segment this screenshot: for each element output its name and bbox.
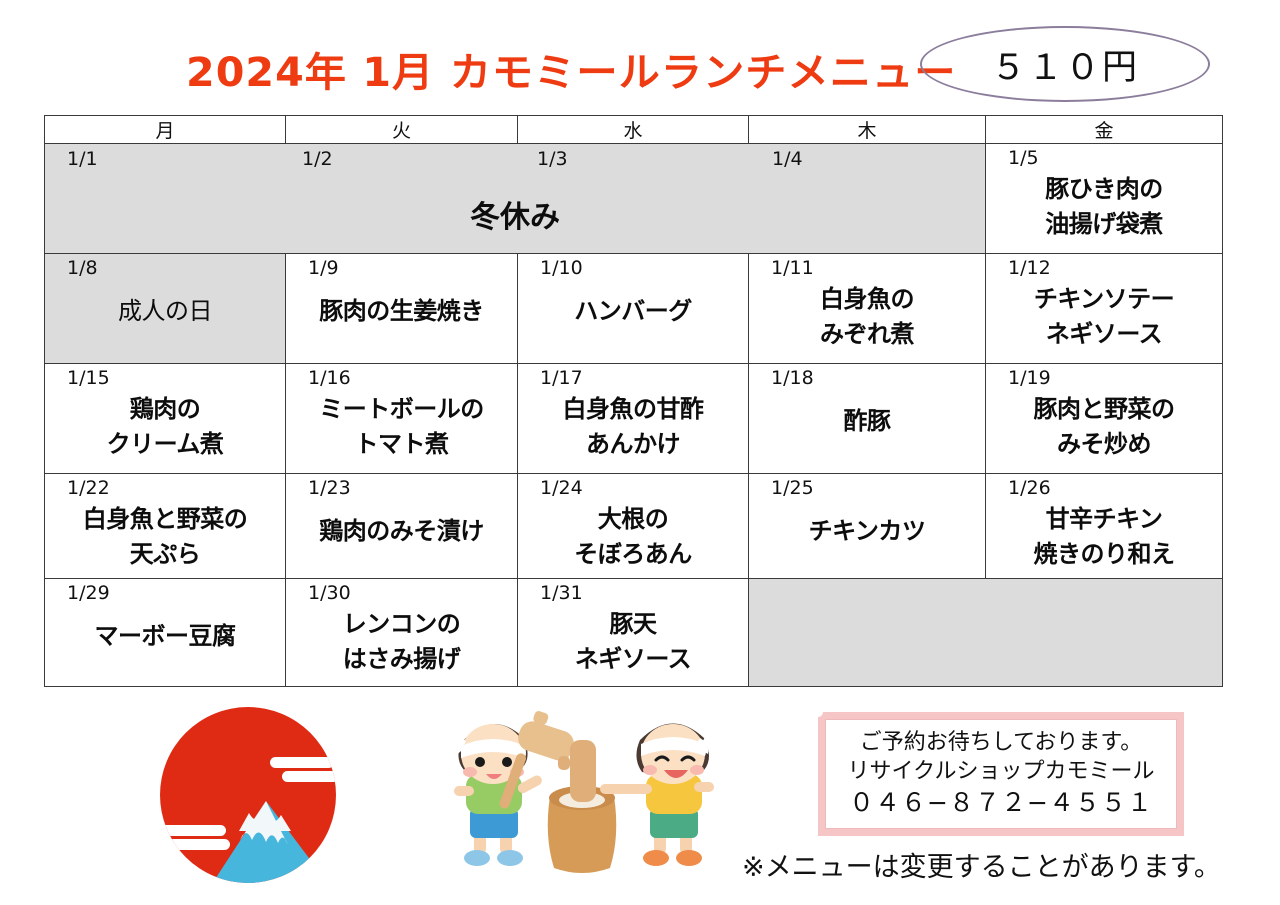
dish-line-1: チキンカツ	[749, 499, 985, 546]
menu-cell-0110: 1/10 ハンバーグ	[518, 254, 749, 364]
menu-cell-0108: 1/8 成人の日	[45, 254, 286, 364]
weekday-header-mon: 月	[45, 116, 286, 144]
holiday-label: 成人の日	[45, 279, 285, 326]
dish-line-1: 豚肉と野菜の	[986, 389, 1222, 424]
menu-cell-0126: 1/26 甘辛チキン 焼きのり和え	[986, 474, 1223, 579]
menu-page: 2024年 1月 カモミールランチメニュー ５１０円 月 火 水 木 金 1/1…	[0, 0, 1280, 905]
menu-cell-0115: 1/15 鶏肉の クリーム煮	[45, 364, 286, 474]
date-label: 1/5	[986, 144, 1222, 169]
menu-cell-0112: 1/12 チキンソテー ネギソース	[986, 254, 1223, 364]
date-label: 1/8	[45, 254, 285, 279]
menu-cell-0105: 1/5 豚ひき肉の 油揚げ袋煮	[986, 144, 1223, 254]
price-label: ５１０円	[991, 39, 1139, 90]
dish-line-2: ネギソース	[986, 314, 1222, 349]
dish-line-1: 鶏肉のみそ漬け	[286, 499, 517, 546]
date-label: 1/23	[286, 474, 517, 499]
reservation-stamp-inner: ご予約お待ちしております。 リサイクルショップカモミール ０４６−８７２−４５５…	[825, 719, 1177, 829]
dish-line-2: そぼろあん	[518, 534, 748, 569]
mochi-pounding-children-icon	[432, 700, 732, 895]
weekday-header-wed: 水	[518, 116, 749, 144]
date-label: 1/11	[749, 254, 985, 279]
dish-line-1: レンコンの	[286, 604, 517, 639]
weekday-header-row: 月 火 水 木 金	[45, 116, 1223, 144]
date-label: 1/4	[750, 144, 985, 170]
table-row: 1/1 1/2 1/3 1/4 冬休み 1/5 豚ひき肉の 油揚げ袋煮	[45, 144, 1223, 254]
menu-cell-0122: 1/22 白身魚と野菜の 天ぷら	[45, 474, 286, 579]
date-label: 1/17	[518, 364, 748, 389]
dish-line-1: ハンバーグ	[518, 279, 748, 326]
dish-line-1: 酢豚	[749, 389, 985, 436]
menu-cell-0125: 1/25 チキンカツ	[749, 474, 986, 579]
dish-line-2: はさみ揚げ	[286, 639, 517, 674]
menu-change-note: ※メニューは変更することがあります。	[742, 845, 1221, 884]
reservation-stamp: ご予約お待ちしております。 リサイクルショップカモミール ０４６−８７２−４５５…	[818, 712, 1184, 836]
dish-line-2: ネギソース	[518, 639, 748, 674]
menu-cell-0117: 1/17 白身魚の甘酢 あんかけ	[518, 364, 749, 474]
menu-cell-0123: 1/23 鶏肉のみそ漬け	[286, 474, 518, 579]
menu-cell-0129: 1/29 マーボー豆腐	[45, 579, 286, 687]
dish-line-2: 天ぷら	[45, 534, 285, 569]
dish-line-1: 甘辛チキン	[986, 499, 1222, 534]
mount-fuji-sun-icon	[148, 705, 353, 895]
menu-cell-0118: 1/18 酢豚	[749, 364, 986, 474]
dish-line-1: 大根の	[518, 499, 748, 534]
date-label: 1/1	[45, 144, 280, 170]
empty-cell	[749, 579, 1223, 687]
dish-line-1: 豚肉の生姜焼き	[286, 279, 517, 326]
date-label: 1/26	[986, 474, 1222, 499]
menu-table: 月 火 水 木 金 1/1 1/2 1/3 1/4 冬休み	[44, 115, 1223, 687]
date-label: 1/10	[518, 254, 748, 279]
page-header: 2024年 1月 カモミールランチメニュー ５１０円	[0, 0, 1280, 115]
date-label: 1/18	[749, 364, 985, 389]
table-row: 1/29 マーボー豆腐 1/30 レンコンの はさみ揚げ 1/31 豚天 ネギソ…	[45, 579, 1223, 687]
reservation-line-1: ご予約お待ちしております。	[860, 729, 1142, 757]
date-label: 1/24	[518, 474, 748, 499]
weekday-header-thu: 木	[749, 116, 986, 144]
price-badge: ５１０円	[920, 26, 1210, 102]
date-label: 1/25	[749, 474, 985, 499]
dish-line-2: みぞれ煮	[749, 314, 985, 349]
date-label: 1/3	[515, 144, 750, 170]
dish-line-1: ミートボールの	[286, 389, 517, 424]
date-label: 1/12	[986, 254, 1222, 279]
dish-line-1: 豚ひき肉の	[986, 169, 1222, 204]
child-right	[600, 723, 716, 866]
menu-cell-0109: 1/9 豚肉の生姜焼き	[286, 254, 518, 364]
menu-cell-0131: 1/31 豚天 ネギソース	[518, 579, 749, 687]
date-label: 1/31	[518, 579, 748, 604]
date-label: 1/19	[986, 364, 1222, 389]
menu-cell-0111: 1/11 白身魚の みぞれ煮	[749, 254, 986, 364]
date-label: 1/15	[45, 364, 285, 389]
table-row: 1/22 白身魚と野菜の 天ぷら 1/23 鶏肉のみそ漬け 1/24 大根の そ…	[45, 474, 1223, 579]
dish-line-1: 白身魚の甘酢	[518, 389, 748, 424]
menu-cell-0116: 1/16 ミートボールの トマト煮	[286, 364, 518, 474]
dish-line-1: マーボー豆腐	[45, 604, 285, 651]
date-label: 1/16	[286, 364, 517, 389]
dish-line-2: あんかけ	[518, 424, 748, 459]
date-label: 1/30	[286, 579, 517, 604]
winter-break-label: 冬休み	[45, 170, 985, 236]
table-row: 1/15 鶏肉の クリーム煮 1/16 ミートボールの トマト煮 1/17 白身…	[45, 364, 1223, 474]
dish-line-1: 豚天	[518, 604, 748, 639]
menu-cell-0119: 1/19 豚肉と野菜の みそ炒め	[986, 364, 1223, 474]
dish-line-1: 白身魚の	[749, 279, 985, 314]
dish-line-2: みそ炒め	[986, 424, 1222, 459]
winter-break-cell: 1/1 1/2 1/3 1/4 冬休み	[45, 144, 986, 254]
phone-number: ０４６−８７２−４５５１	[849, 787, 1153, 819]
date-label: 1/9	[286, 254, 517, 279]
dish-line-2: 油揚げ袋煮	[986, 204, 1222, 239]
date-label: 1/29	[45, 579, 285, 604]
shop-name: リサイクルショップカモミール	[848, 758, 1155, 786]
date-label: 1/22	[45, 474, 285, 499]
dish-line-1: 白身魚と野菜の	[45, 499, 285, 534]
table-row: 1/8 成人の日 1/9 豚肉の生姜焼き 1/10 ハンバーグ 1/11 白身魚…	[45, 254, 1223, 364]
dish-line-2: クリーム煮	[45, 424, 285, 459]
winter-break-dates: 1/1 1/2 1/3 1/4	[45, 144, 985, 170]
dish-line-1: 鶏肉の	[45, 389, 285, 424]
dish-line-2: トマト煮	[286, 424, 517, 459]
menu-cell-0130: 1/30 レンコンの はさみ揚げ	[286, 579, 518, 687]
dish-line-1: チキンソテー	[986, 279, 1222, 314]
dish-line-2: 焼きのり和え	[986, 534, 1222, 569]
page-title: 2024年 1月 カモミールランチメニュー	[186, 40, 956, 98]
weekday-header-fri: 金	[986, 116, 1223, 144]
date-label: 1/2	[280, 144, 515, 170]
menu-cell-0124: 1/24 大根の そぼろあん	[518, 474, 749, 579]
weekday-header-tue: 火	[286, 116, 518, 144]
